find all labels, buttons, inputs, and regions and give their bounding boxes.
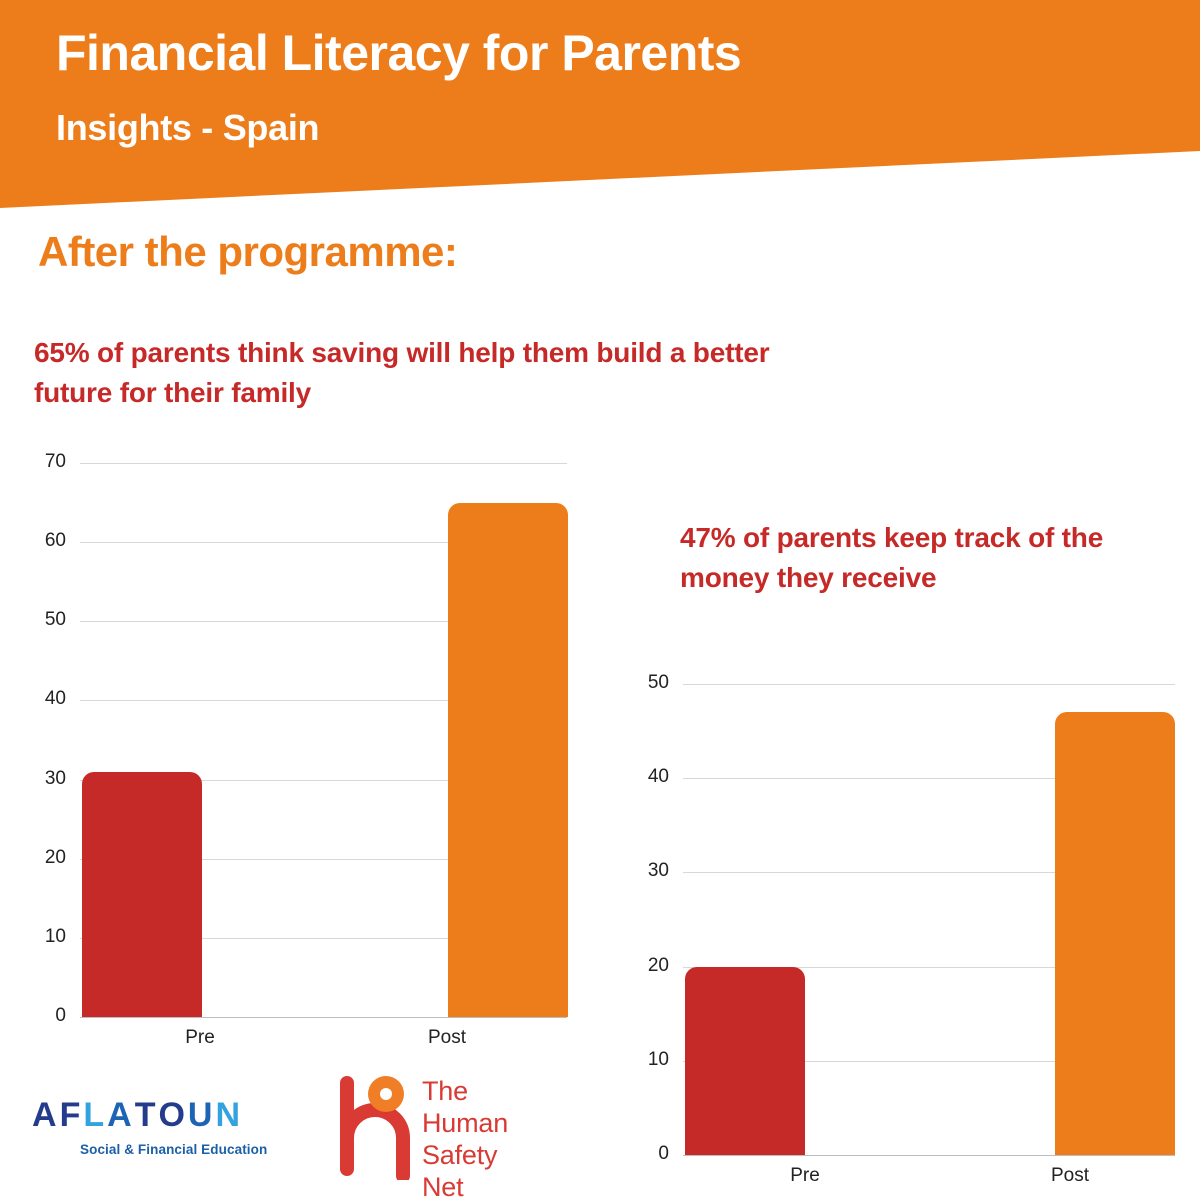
- chart-gridline: [683, 684, 1175, 685]
- aflatoun-logo: AFLATOUN Social & Financial Education: [32, 1098, 292, 1172]
- page-title: Financial Literacy for Parents: [56, 26, 741, 80]
- chart-baseline: [683, 1155, 1175, 1156]
- chart-y-axis-tick: 40: [10, 688, 66, 710]
- section-heading: After the programme:: [38, 228, 457, 276]
- chart-y-axis-tick: 50: [10, 609, 66, 631]
- chart-y-axis-tick: 60: [10, 530, 66, 552]
- infographic-page: Financial Literacy for Parents Insights …: [0, 0, 1200, 1200]
- chart-x-axis-tick: Pre: [150, 1027, 250, 1049]
- chart-y-axis-tick: 10: [613, 1049, 669, 1071]
- aflatoun-letter: A: [32, 1098, 57, 1132]
- chart-y-axis-tick: 50: [613, 672, 669, 694]
- aflatoun-letter: T: [135, 1098, 156, 1132]
- chart-y-axis-tick: 30: [613, 860, 669, 882]
- human-safety-net-logo: The Human Safety Net: [336, 1070, 536, 1195]
- chart-y-axis-tick: 20: [10, 847, 66, 869]
- chart-y-axis-tick: 10: [10, 926, 66, 948]
- aflatoun-letter: F: [60, 1098, 81, 1132]
- aflatoun-letter: N: [215, 1098, 240, 1132]
- aflatoun-letter: L: [83, 1098, 104, 1132]
- hsn-h-mark-icon: [336, 1072, 416, 1180]
- chart-y-axis-tick: 30: [10, 768, 66, 790]
- chart-bar-post: [1055, 712, 1175, 1155]
- chart-tracking: 01020304050PrePost: [600, 660, 1200, 1200]
- chart-x-axis-tick: Pre: [755, 1165, 855, 1187]
- chart-y-axis-tick: 40: [613, 766, 669, 788]
- stat-callout-saving: 65% of parents think saving will help th…: [34, 333, 794, 413]
- page-subtitle: Insights - Spain: [56, 108, 319, 148]
- chart-bar-pre: [82, 772, 202, 1017]
- chart-gridline: [80, 463, 567, 464]
- hsn-wordmark: The Human Safety Net: [422, 1076, 508, 1200]
- aflatoun-tagline: Social & Financial Education: [80, 1142, 267, 1157]
- aflatoun-letter: A: [107, 1098, 132, 1132]
- hsn-line-4: Net: [422, 1172, 508, 1200]
- chart-y-axis-tick: 20: [613, 955, 669, 977]
- chart-bar-pre: [685, 967, 805, 1155]
- chart-y-axis-tick: 70: [10, 451, 66, 473]
- aflatoun-letter: O: [158, 1098, 184, 1132]
- chart-bar-post: [448, 503, 568, 1017]
- aflatoun-letter: U: [188, 1098, 213, 1132]
- chart-x-axis-tick: Post: [1020, 1165, 1120, 1187]
- chart-baseline: [80, 1017, 567, 1018]
- hsn-line-1: The: [422, 1076, 508, 1108]
- chart-x-axis-tick: Post: [397, 1027, 497, 1049]
- stat-callout-tracking: 47% of parents keep track of the money t…: [680, 518, 1180, 598]
- chart-y-axis-tick: 0: [613, 1143, 669, 1165]
- chart-saving: 010203040506070PrePost: [0, 440, 600, 1060]
- aflatoun-wordmark: AFLATOUN: [32, 1098, 240, 1132]
- chart-y-axis-tick: 0: [10, 1005, 66, 1027]
- hsn-line-2: Human: [422, 1108, 508, 1140]
- hsn-line-3: Safety: [422, 1140, 508, 1172]
